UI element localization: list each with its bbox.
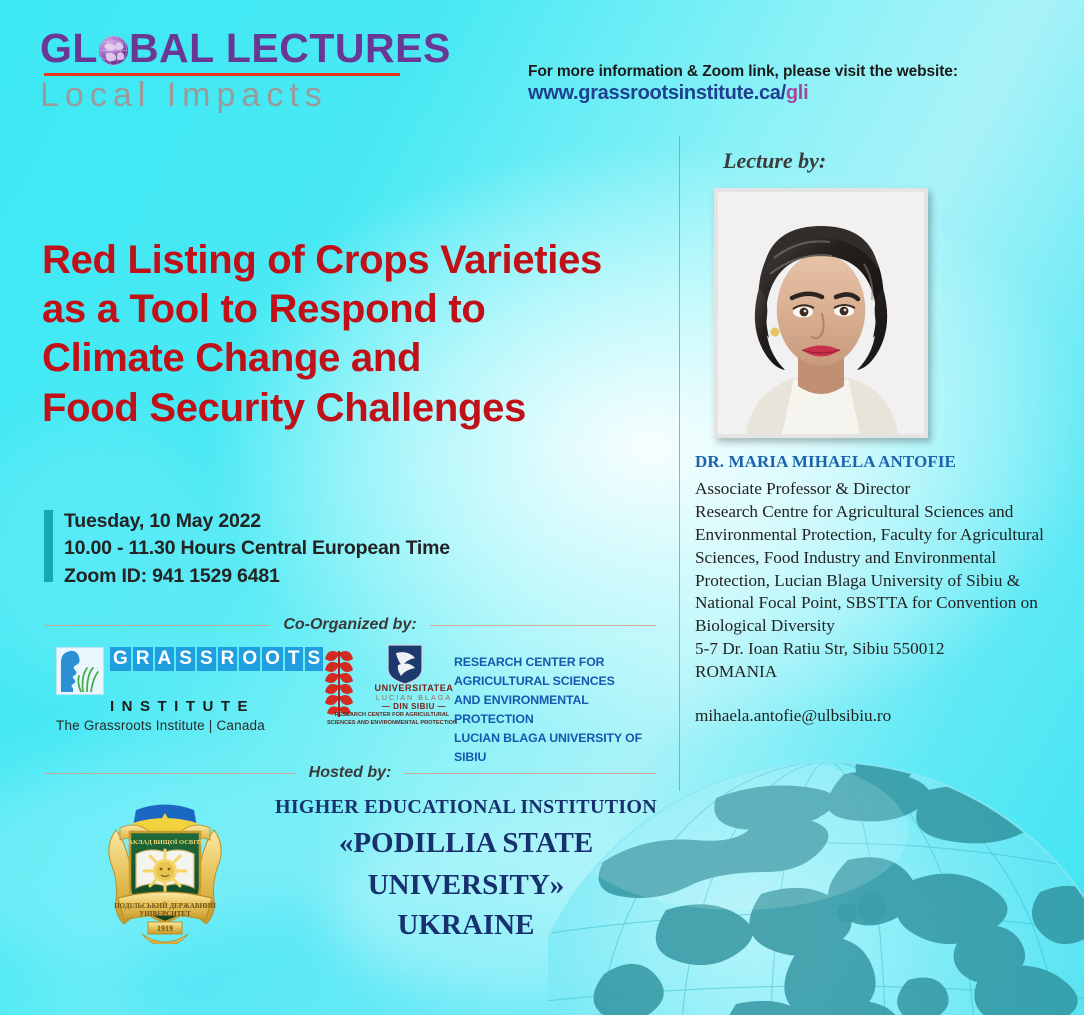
schedule-block: Tuesday, 10 May 2022 10.00 - 11.30 Hours… — [44, 508, 450, 590]
host-institution-name: HIGHER EDUCATIONAL INSTITUTION «PODILLIA… — [266, 796, 666, 942]
poster-canvas: GLBAL LECTURES Local Impacts For more in… — [0, 0, 1084, 1015]
wordmark-letter: O — [262, 647, 283, 671]
website-info: For more information & Zoom link, please… — [528, 63, 958, 105]
brand-logo: GLBAL LECTURES Local Impacts — [40, 28, 460, 114]
grassroots-wordmark: G R A S S R O O T S — [110, 647, 323, 671]
wordmark-letter: A — [155, 647, 175, 671]
research-center-line: RESEARCH CENTER FOR — [454, 653, 664, 672]
lecture-title-line: as a Tool to Respond to — [42, 285, 682, 334]
hosted-by-divider: Hosted by: — [44, 764, 656, 782]
speaker-portrait-photo — [714, 188, 928, 438]
host-line2: «PODILLIA STATE — [266, 826, 666, 861]
website-instruction: For more information & Zoom link, please… — [528, 63, 958, 81]
bio-line: Environmental Protection, Faculty for Ag… — [695, 524, 1073, 547]
wordmark-letter: R — [218, 647, 238, 671]
wordmark-letter: S — [176, 647, 195, 671]
co-organized-label: Co-Organized by: — [270, 616, 429, 634]
lecture-title: Red Listing of Crops Varieties as a Tool… — [42, 236, 682, 433]
bio-line: Protection, Lucian Blaga University of S… — [695, 570, 1073, 593]
hosted-by-label: Hosted by: — [296, 764, 405, 782]
bio-line: Research Centre for Agricultural Science… — [695, 501, 1073, 524]
bio-line: National Focal Point, SBSTTA for Convent… — [695, 592, 1073, 615]
schedule-time: 10.00 - 11.30 Hours Central European Tim… — [64, 535, 450, 562]
lucian-blaga-logo: UNIVERSITATEA LUCIAN BLAGA — DIN SIBIU —… — [316, 643, 468, 731]
lecture-title-line: Food Security Challenges — [42, 384, 682, 433]
lecture-by-label: Lecture by: — [723, 148, 826, 174]
host-line3: UNIVERSITY» — [266, 868, 666, 903]
svg-text:1919: 1919 — [157, 924, 173, 933]
divider-rule-right — [430, 625, 656, 626]
lecture-title-line: Climate Change and — [42, 334, 682, 383]
host-block: ЗАКЛАД ВИЩОЇ ОСВІТИ — [44, 790, 664, 950]
bio-line: ROMANIA — [695, 661, 1073, 684]
svg-text:УНІВЕРСИТЕТ: УНІВЕРСИТЕТ — [139, 910, 191, 918]
bio-line: Sciences, Food Industry and Environmenta… — [695, 547, 1073, 570]
host-line4: UKRAINE — [266, 909, 666, 942]
research-center-line: LUCIAN BLAGA UNIVERSITY OF SIBIU — [454, 729, 664, 767]
schedule-date: Tuesday, 10 May 2022 — [64, 508, 450, 535]
podillia-state-university-crest-icon: ЗАКЛАД ВИЩОЇ ОСВІТИ — [92, 794, 238, 949]
speaker-bio: DR. MARIA MIHAELA ANTOFIE Associate Prof… — [695, 452, 1073, 726]
schedule-zoom-id: Zoom ID: 941 1529 6481 — [64, 563, 450, 590]
co-organized-divider: Co-Organized by: — [44, 616, 656, 634]
divider-rule-left — [44, 625, 270, 626]
brand-title-line2: Local Impacts — [40, 78, 460, 114]
research-center-line: AGRICULTURAL SCIENCES — [454, 672, 664, 691]
face-profile-icon — [56, 647, 104, 695]
wordmark-letter: G — [110, 647, 131, 671]
svg-text:ПОДІЛЬСЬКИЙ ДЕРЖАВНИЙ: ПОДІЛЬСЬКИЙ ДЕРЖАВНИЙ — [114, 902, 216, 910]
lucian-blaga-footer1: RESEARCH CENTER FOR AGRICULTURAL — [316, 711, 468, 719]
speaker-name: DR. MARIA MIHAELA ANTOFIE — [695, 452, 1073, 472]
research-center-text: RESEARCH CENTER FOR AGRICULTURAL SCIENCE… — [454, 653, 664, 767]
lecture-title-line: Red Listing of Crops Varieties — [42, 236, 682, 285]
lucian-blaga-line1: UNIVERSITATEA — [362, 683, 466, 693]
grassroots-institute-word: INSTITUTE — [110, 698, 296, 715]
website-url-highlight: gli — [786, 82, 808, 104]
wordmark-letter: R — [133, 647, 153, 671]
brand-title-part2: BAL LECTURES — [129, 25, 451, 71]
brand-title-part1: GL — [40, 25, 98, 71]
wordmark-letter: S — [197, 647, 216, 671]
wordmark-letter: T — [285, 647, 303, 671]
lucian-blaga-line3: — DIN SIBIU — — [362, 702, 466, 711]
research-center-line: AND ENVIRONMENTAL PROTECTION — [454, 691, 664, 729]
column-divider — [679, 136, 680, 791]
speaker-email[interactable]: mihaela.antofie@ulbsibiu.ro — [695, 706, 1073, 726]
bio-line: Biological Diversity — [695, 615, 1073, 638]
svg-text:ЗАКЛАД ВИЩОЇ ОСВІТИ: ЗАКЛАД ВИЩОЇ ОСВІТИ — [125, 839, 205, 846]
grassroots-tagline: The Grassroots Institute | Canada — [56, 718, 296, 733]
bio-line: 5-7 Dr. Ioan Ratiu Str, Sibiu 550012 — [695, 638, 1073, 661]
lucian-blaga-footer2: SCIENCES AND ENVIRONMENTAL PROTECTION — [316, 719, 468, 727]
divider-rule-right — [404, 773, 656, 774]
website-url[interactable]: www.grassrootsinstitute.ca/gli — [528, 82, 958, 105]
speaker-affiliation: Associate Professor & Director Research … — [695, 478, 1073, 684]
brand-title-line1: GLBAL LECTURES — [40, 28, 460, 69]
divider-rule-left — [44, 773, 296, 774]
co-organizer-logos: G R A S S R O O T S INSTITUTE The Grassr… — [44, 645, 664, 730]
globe-icon — [98, 32, 129, 63]
grassroots-institute-logo: G R A S S R O O T S INSTITUTE The Grassr… — [56, 647, 296, 733]
wordmark-letter: O — [239, 647, 260, 671]
lucian-blaga-line2: LUCIAN BLAGA — [362, 693, 466, 702]
website-url-main: www.grassrootsinstitute.ca/ — [528, 82, 786, 104]
bio-line: Associate Professor & Director — [695, 478, 1073, 501]
host-line1: HIGHER EDUCATIONAL INSTITUTION — [266, 796, 666, 819]
